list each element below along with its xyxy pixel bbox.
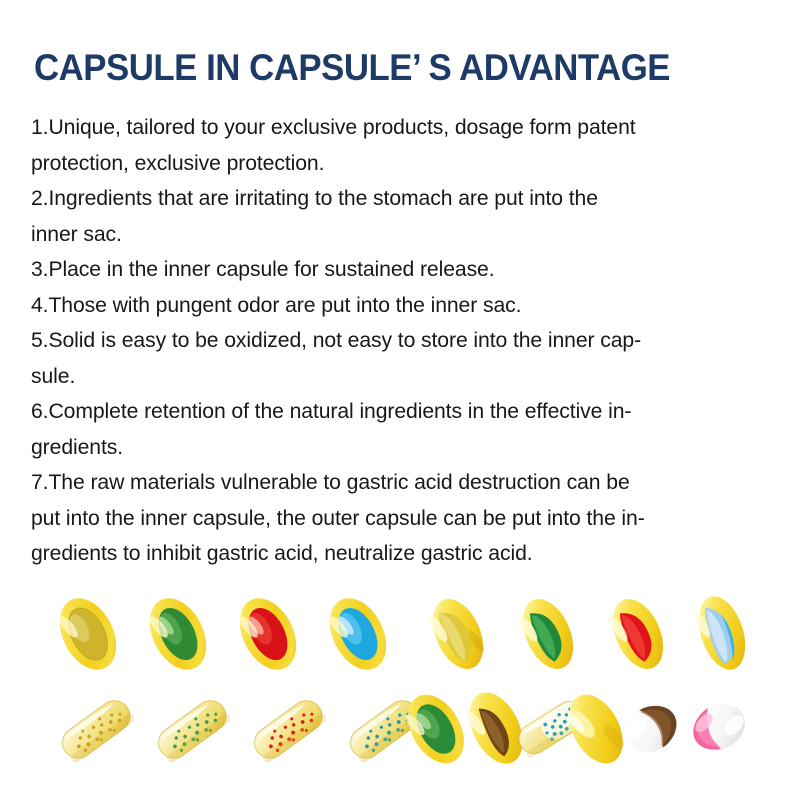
- body-line: gredients to inhibit gastric acid, neutr…: [31, 536, 750, 572]
- body-line: 6.Complete retention of the natural ingr…: [31, 394, 750, 430]
- body-line: inner sac.: [31, 217, 750, 253]
- capsule-pellet-red: [242, 688, 334, 770]
- capsule-softgel-pink-white: [678, 686, 760, 768]
- body-line: 5.Solid is easy to be oxidized, not easy…: [31, 323, 750, 359]
- body-line: 7.The raw materials vulnerable to gastri…: [31, 465, 750, 501]
- capsule-illustration-gallery: [0, 575, 800, 800]
- body-line: 2.Ingredients that are irritating to the…: [31, 181, 750, 217]
- advantages-text-block: 1.Unique, tailored to your exclusive pro…: [31, 110, 761, 572]
- page-title: CAPSULE IN CAPSULE’ S ADVANTAGE: [34, 48, 730, 88]
- capsule-ring-blue: [322, 593, 394, 675]
- body-line: gredients.: [31, 430, 750, 466]
- capsule-softgel-lightblue: [686, 591, 758, 675]
- capsule-softgel-red: [602, 593, 674, 675]
- body-line: 4.Those with pungent odor are put into t…: [31, 288, 750, 324]
- capsule-ring-gold: [52, 593, 124, 675]
- body-line: 3.Place in the inner capsule for sustain…: [31, 252, 750, 288]
- capsule-ring-red: [232, 593, 304, 675]
- capsule-softgel-green: [512, 593, 584, 675]
- capsule-pellet-gold: [50, 688, 142, 770]
- product-info-page: CAPSULE IN CAPSULE’ S ADVANTAGE 1.Unique…: [0, 0, 800, 800]
- body-line: protection, exclusive protection.: [31, 146, 750, 182]
- body-line: 1.Unique, tailored to your exclusive pro…: [31, 110, 750, 146]
- capsule-softgel-gold: [422, 593, 494, 675]
- capsule-pellet-green: [146, 688, 238, 770]
- body-line: put into the inner capsule, the outer ca…: [31, 501, 750, 537]
- body-line: sule.: [31, 359, 750, 395]
- capsule-ring-green: [142, 593, 214, 675]
